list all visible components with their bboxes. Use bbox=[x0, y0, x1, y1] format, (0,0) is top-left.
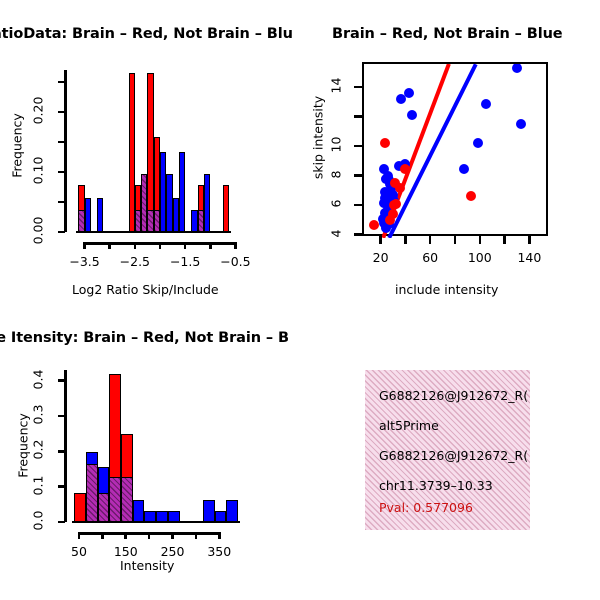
y-tick bbox=[354, 115, 362, 118]
scatter-point-brain bbox=[391, 199, 401, 209]
y-tick bbox=[58, 201, 65, 204]
x-tick-label: 150 bbox=[101, 544, 151, 559]
histogram-baseline bbox=[72, 521, 240, 524]
x-tick bbox=[124, 532, 127, 539]
x-tick-label: 100 bbox=[455, 250, 505, 265]
info-line-probe-id-2: G6882126@J912672_R( bbox=[379, 448, 528, 463]
intensity-histogram-plot-area: 0.00.10.20.30.450150250350 bbox=[0, 310, 300, 600]
y-tick bbox=[58, 141, 65, 144]
histogram-bar-not-brain bbox=[203, 500, 215, 522]
y-tick bbox=[58, 81, 65, 84]
x-tick-label: 20 bbox=[356, 250, 406, 265]
scatter-point-not-brain bbox=[404, 88, 414, 98]
intensity-histogram-panel: ne Itensity: Brain – Red, Not Brain – B … bbox=[0, 310, 300, 600]
x-tick-label: 60 bbox=[405, 250, 455, 265]
scatter-point-not-brain bbox=[481, 99, 491, 109]
x-tick-label: 250 bbox=[148, 544, 198, 559]
y-tick-label: 10 bbox=[329, 125, 344, 165]
info-line-event-type: alt5Prime bbox=[379, 418, 439, 433]
info-line-pvalue: Pval: 0.577096 bbox=[379, 500, 473, 515]
histogram-bar-overlap bbox=[98, 493, 110, 522]
y-tick-label: 0.20 bbox=[31, 87, 46, 135]
scatter-point-brain bbox=[369, 220, 379, 230]
x-tick-minor bbox=[159, 242, 162, 249]
y-tick bbox=[354, 174, 362, 177]
scatter-point-not-brain bbox=[407, 110, 417, 120]
x-tick bbox=[134, 242, 137, 249]
y-tick bbox=[58, 450, 65, 453]
x-tick bbox=[404, 236, 407, 244]
y-tick bbox=[58, 415, 65, 418]
x-tick bbox=[78, 532, 81, 539]
histogram-bar-brain bbox=[223, 185, 229, 232]
y-tick-label: 14 bbox=[329, 66, 344, 106]
histogram-bar-overlap bbox=[121, 477, 133, 522]
x-tick bbox=[83, 242, 86, 249]
x-tick-label: −2.5 bbox=[110, 254, 160, 269]
y-tick bbox=[354, 145, 362, 148]
x-tick bbox=[184, 242, 187, 249]
histogram-bar-not-brain bbox=[204, 174, 210, 232]
x-tick bbox=[429, 236, 432, 244]
x-tick bbox=[528, 236, 531, 244]
x-tick-label: −1.5 bbox=[160, 254, 210, 269]
y-tick bbox=[58, 231, 65, 234]
x-tick bbox=[218, 532, 221, 539]
histogram-bar-overlap bbox=[198, 210, 204, 232]
scatter-panel: Brain – Red, Not Brain – Blue skip inten… bbox=[300, 0, 600, 310]
x-tick bbox=[379, 236, 382, 244]
scatter-frame bbox=[362, 62, 548, 236]
ratio-histogram-panel: atioData: Brain – Red, Not Brain – Blu F… bbox=[0, 0, 300, 310]
x-tick bbox=[479, 236, 482, 244]
x-tick bbox=[171, 532, 174, 539]
histogram-bar-not-brain bbox=[179, 152, 185, 232]
y-axis-line bbox=[64, 70, 67, 232]
x-tick-label: 350 bbox=[194, 544, 244, 559]
y-tick-label: 0.4 bbox=[31, 355, 46, 403]
scatter-point-not-brain bbox=[512, 64, 522, 73]
scatter-point-not-brain bbox=[459, 164, 469, 174]
y-tick bbox=[58, 111, 65, 114]
x-tick-minor bbox=[209, 242, 212, 249]
x-tick-label: 50 bbox=[54, 544, 104, 559]
y-tick-label: 0.10 bbox=[31, 147, 46, 195]
y-tick bbox=[58, 521, 65, 524]
scatter-point-brain bbox=[380, 138, 390, 148]
histogram-bar-overlap bbox=[109, 477, 121, 522]
ratio-histogram-plot-area: 0.000.100.20−3.5−2.5−1.5−0.5 bbox=[0, 0, 300, 310]
x-tick bbox=[148, 532, 151, 539]
x-tick-minor bbox=[108, 242, 111, 249]
scatter-point-brain bbox=[466, 191, 476, 201]
annotation-info-box: G6882126@J912672_R( alt5Prime G6882126@J… bbox=[365, 370, 530, 530]
info-line-coordinates: chr11.3739–10.33 bbox=[379, 478, 493, 493]
histogram-bar-not-brain bbox=[97, 198, 103, 232]
histogram-bar-overlap bbox=[86, 464, 98, 522]
scatter-data-layer bbox=[364, 64, 550, 238]
histogram-bar-not-brain bbox=[133, 500, 145, 522]
histogram-baseline bbox=[76, 231, 231, 234]
y-tick bbox=[354, 86, 362, 89]
regression-line-not-brain bbox=[387, 64, 477, 238]
x-tick-label: −3.5 bbox=[60, 254, 110, 269]
x-tick bbox=[195, 532, 198, 539]
x-tick bbox=[454, 236, 457, 244]
y-tick-label: 0.00 bbox=[31, 207, 46, 255]
y-tick bbox=[354, 204, 362, 207]
info-line-probe-id: G6882126@J912672_R( bbox=[379, 388, 528, 403]
x-tick bbox=[234, 242, 237, 249]
y-tick bbox=[58, 171, 65, 174]
y-tick bbox=[354, 233, 362, 236]
histogram-bar-overlap bbox=[154, 210, 160, 232]
y-tick bbox=[58, 379, 65, 382]
y-axis-line bbox=[64, 370, 67, 522]
scatter-plot-area: 46810142060100140 bbox=[300, 0, 600, 310]
y-tick bbox=[58, 485, 65, 488]
x-tick-label: 140 bbox=[504, 250, 554, 265]
histogram-bar-not-brain bbox=[226, 500, 238, 522]
scatter-point-brain bbox=[395, 183, 405, 193]
histogram-bar-brain bbox=[74, 493, 86, 522]
x-tick-label: −0.5 bbox=[210, 254, 260, 269]
x-tick bbox=[101, 532, 104, 539]
histogram-bar-not-brain bbox=[85, 198, 91, 232]
scatter-point-brain bbox=[388, 209, 398, 219]
scatter-point-not-brain bbox=[473, 138, 483, 148]
histogram-bar-overlap bbox=[78, 210, 84, 232]
scatter-point-not-brain bbox=[516, 119, 526, 129]
x-tick bbox=[503, 236, 506, 244]
